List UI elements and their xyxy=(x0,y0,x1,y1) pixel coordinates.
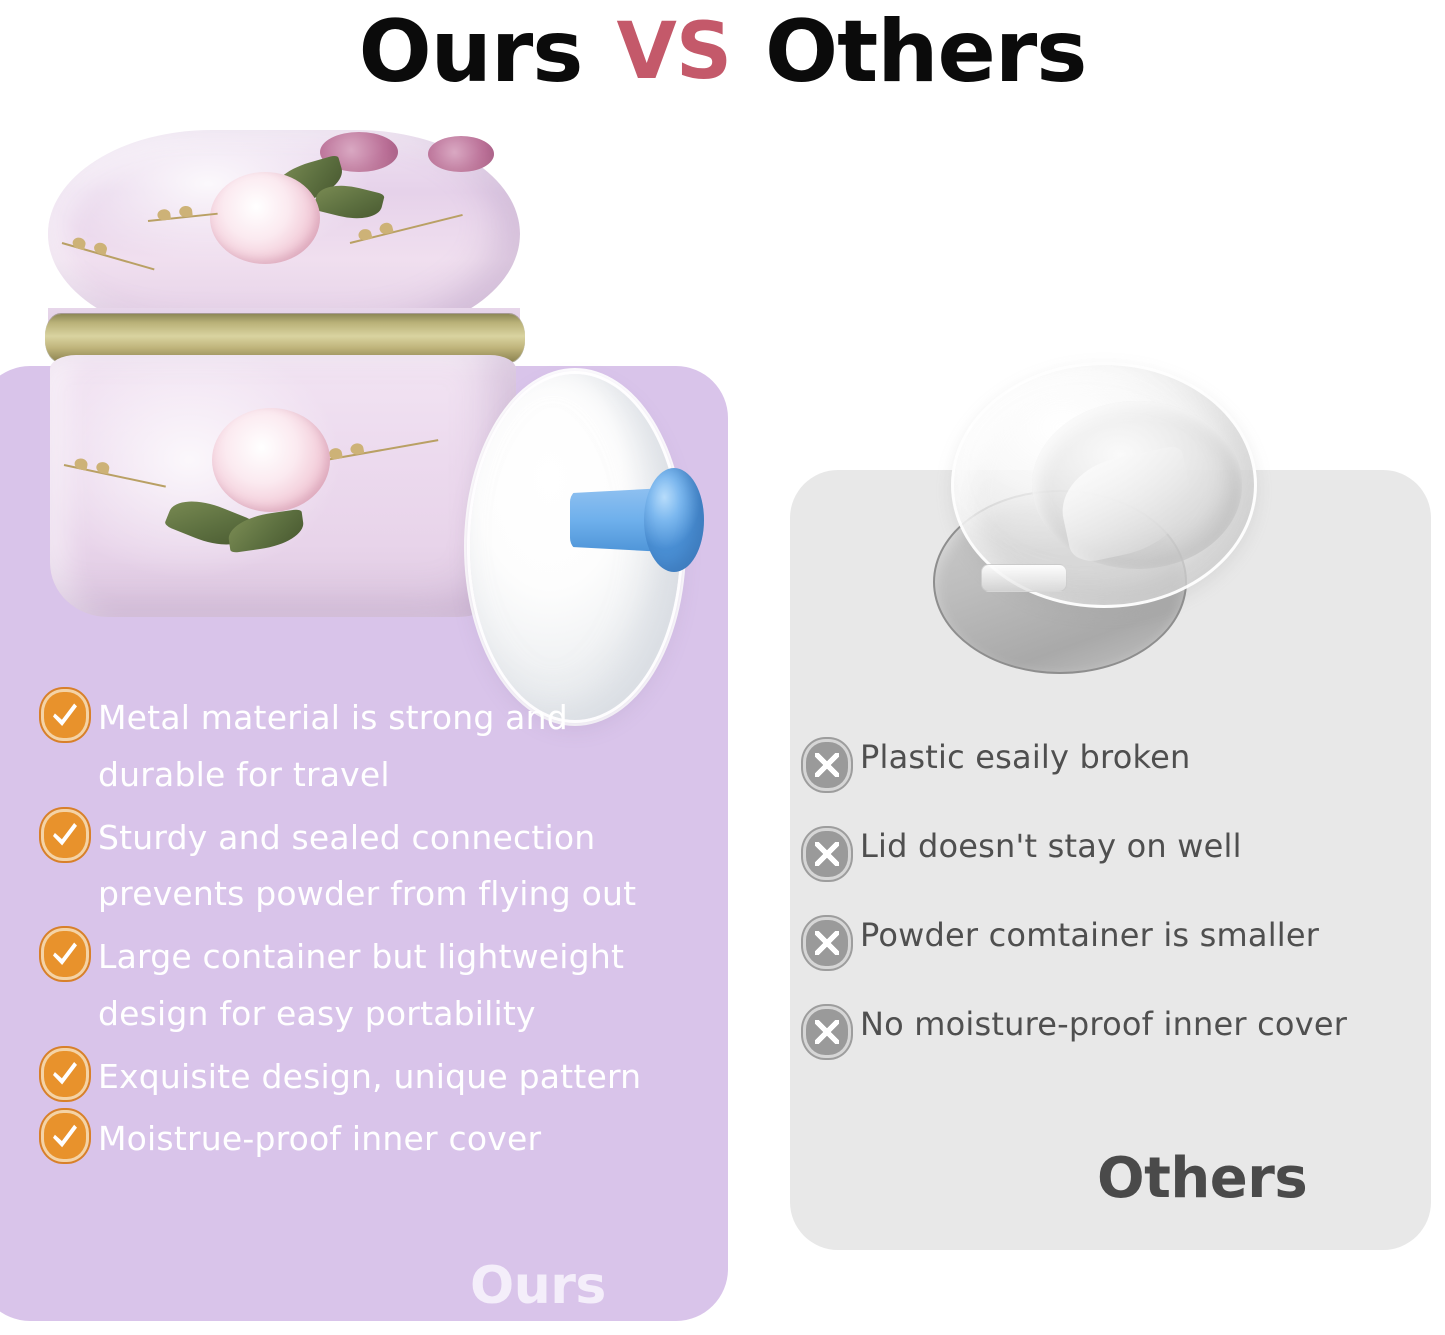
others-product-image xyxy=(915,358,1265,676)
clear-lid-tab xyxy=(981,564,1067,592)
list-item: Lid doesn't stay on well xyxy=(806,829,1406,877)
ours-feature-text: Sturdy and sealed connection prevents po… xyxy=(98,810,704,924)
list-item: Sturdy and sealed connection prevents po… xyxy=(44,810,704,924)
ours-feature-text: Exquisite design, unique pattern xyxy=(98,1049,641,1106)
list-item: Metal material is strong and durable for… xyxy=(44,690,704,804)
others-panel-label: Others xyxy=(1097,1146,1307,1211)
ours-panel-label: Ours xyxy=(470,1256,606,1316)
check-badge-icon xyxy=(44,692,86,738)
cross-badge-icon xyxy=(806,831,848,877)
cross-badge-icon xyxy=(806,742,848,788)
list-item: Large container but lightweight design f… xyxy=(44,929,704,1043)
ours-feature-list: Metal material is strong and durable for… xyxy=(44,690,704,1174)
others-drawback-list: Plastic esaily broken Lid doesn't stay o… xyxy=(806,740,1406,1096)
list-item: No moisture-proof inner cover xyxy=(806,1007,1406,1055)
rose-motif xyxy=(212,408,330,512)
others-drawback-text: Powder comtainer is smaller xyxy=(860,918,1319,953)
others-drawback-text: Plastic esaily broken xyxy=(860,740,1190,775)
others-drawback-text: Lid doesn't stay on well xyxy=(860,829,1242,864)
check-badge-icon xyxy=(44,812,86,858)
check-badge-icon xyxy=(44,1051,86,1097)
ours-product-image xyxy=(20,112,740,642)
check-badge-icon xyxy=(44,931,86,977)
list-item: Plastic esaily broken xyxy=(806,740,1406,788)
list-item: Exquisite design, unique pattern xyxy=(44,1049,704,1106)
page-title: Ours VS Others xyxy=(0,2,1445,102)
rose-motif xyxy=(210,172,320,264)
title-ours-word: Ours xyxy=(359,9,583,95)
ours-feature-text: Large container but lightweight design f… xyxy=(98,929,704,1043)
cross-badge-icon xyxy=(806,1009,848,1055)
ours-feature-text: Metal material is strong and durable for… xyxy=(98,690,704,804)
comparison-infographic: Ours VS Others xyxy=(0,0,1445,1335)
check-badge-icon xyxy=(44,1113,86,1159)
rose-motif xyxy=(428,136,494,172)
list-item: Moistrue-proof inner cover xyxy=(44,1111,704,1168)
title-others-word: Others xyxy=(765,9,1086,95)
cross-badge-icon xyxy=(806,920,848,966)
puff-handle xyxy=(560,458,710,582)
handle-knob xyxy=(644,468,704,572)
list-item: Powder comtainer is smaller xyxy=(806,918,1406,966)
title-vs-word: VS xyxy=(617,13,732,91)
ours-feature-text: Moistrue-proof inner cover xyxy=(98,1111,541,1168)
others-drawback-text: No moisture-proof inner cover xyxy=(860,1007,1347,1042)
